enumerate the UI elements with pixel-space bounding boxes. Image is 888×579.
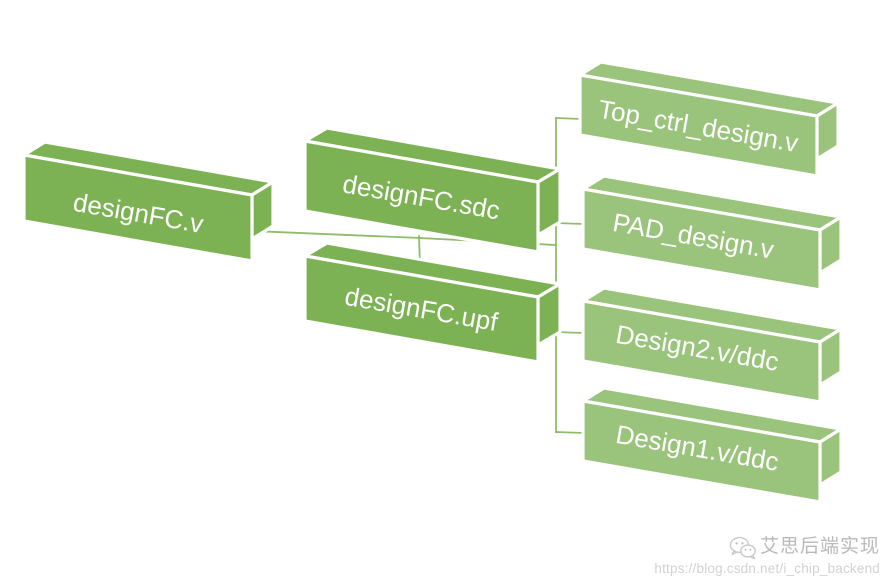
edge-designfc-v-to-sdc (252, 231, 420, 238)
watermark: 艾思后端实现 https://blog.csdn.net/i_chip_back… (654, 536, 880, 576)
node-side-face (538, 169, 560, 235)
node-top-ctrl-design-v[interactable]: Top_ctrl_design.v (580, 62, 838, 176)
diagram-canvas: designFC.v designFC.sdc designFC.upf Top… (0, 0, 888, 579)
node-design1-v-ddc[interactable]: Design1.v/ddc (583, 388, 841, 502)
edge-trunk-to-top-ctrl-design (556, 118, 580, 119)
watermark-brand-text: 艾思后端实现 (760, 537, 880, 556)
node-designfc-sdc[interactable]: designFC.sdc (305, 128, 560, 252)
node-pad-design-v[interactable]: PAD_design.v (583, 176, 841, 290)
node-designfc-v[interactable]: designFC.v (24, 142, 273, 261)
watermark-brand-row: 艾思后端实现 (654, 536, 880, 557)
node-designfc-upf[interactable]: designFC.upf (305, 243, 560, 362)
node-design2-v-ddc[interactable]: Design2.v/ddc (583, 288, 841, 402)
wechat-icon (729, 536, 753, 557)
watermark-url: https://blog.csdn.net/i_chip_backend (654, 562, 880, 576)
edge-trunk-to-design1 (556, 432, 583, 433)
hierarchy-diagram: designFC.v designFC.sdc designFC.upf Top… (0, 0, 888, 579)
